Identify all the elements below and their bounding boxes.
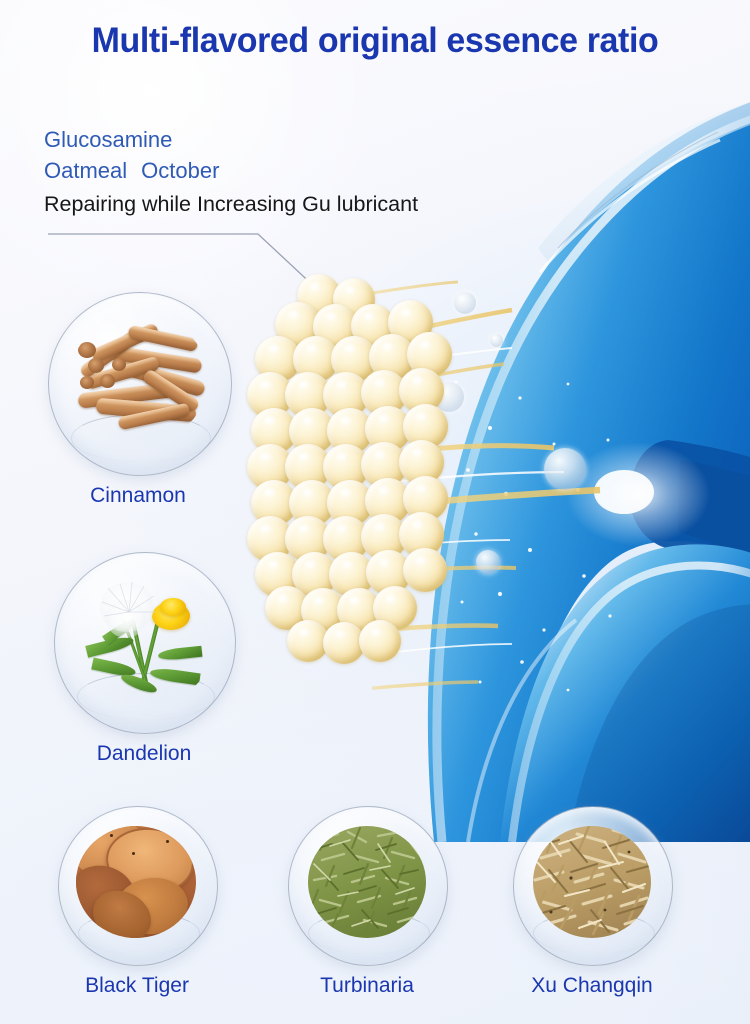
essence-particle [454, 292, 476, 314]
golden-essence-bead-cluster [247, 274, 457, 666]
ingredient-label-dandelion: Dandelion [44, 742, 244, 766]
callout-word-october: October [141, 155, 219, 186]
ingredient-dish-dandelion[interactable]: Dandelion [54, 552, 234, 732]
dish-content-turbinaria [308, 826, 426, 938]
callout-subtitle: Repairing while Increasing Gu lubricant [44, 188, 484, 220]
ingredient-dish-turbinaria[interactable]: Turbinaria [288, 806, 446, 964]
essence-particle [544, 448, 586, 490]
dish-content-dandelion [76, 578, 214, 706]
callout-line-oatmeal-october: Oatmeal October [44, 155, 484, 186]
callout-line-glucosamine: Glucosamine [44, 124, 484, 155]
ingredient-label-xu-changqin: Xu Changqin [499, 974, 685, 998]
ingredient-label-turbinaria: Turbinaria [274, 974, 460, 998]
ingredient-label-black-tiger: Black Tiger [44, 974, 230, 998]
dish-content-black-tiger [76, 826, 196, 938]
callout-word-oatmeal: Oatmeal [44, 155, 127, 186]
essence-particle [476, 550, 500, 574]
essence-particle [490, 334, 503, 347]
page-title: Multi-flavored original essence ratio [11, 21, 739, 61]
ingredient-dish-cinnamon[interactable]: Cinnamon [48, 292, 230, 474]
dish-content-cinnamon [70, 314, 208, 444]
dish-content-xu-changqin [533, 826, 651, 938]
product-infographic-poster: Multi-flavored original essence ratio Gl… [0, 0, 750, 1024]
ingredient-label-cinnamon: Cinnamon [38, 484, 238, 508]
ingredient-dish-black-tiger[interactable]: Black Tiger [58, 806, 216, 964]
callout-text-block: Glucosamine Oatmeal October Repairing wh… [44, 124, 484, 221]
ingredient-dish-xu-changqin[interactable]: Xu Changqin [513, 806, 671, 964]
